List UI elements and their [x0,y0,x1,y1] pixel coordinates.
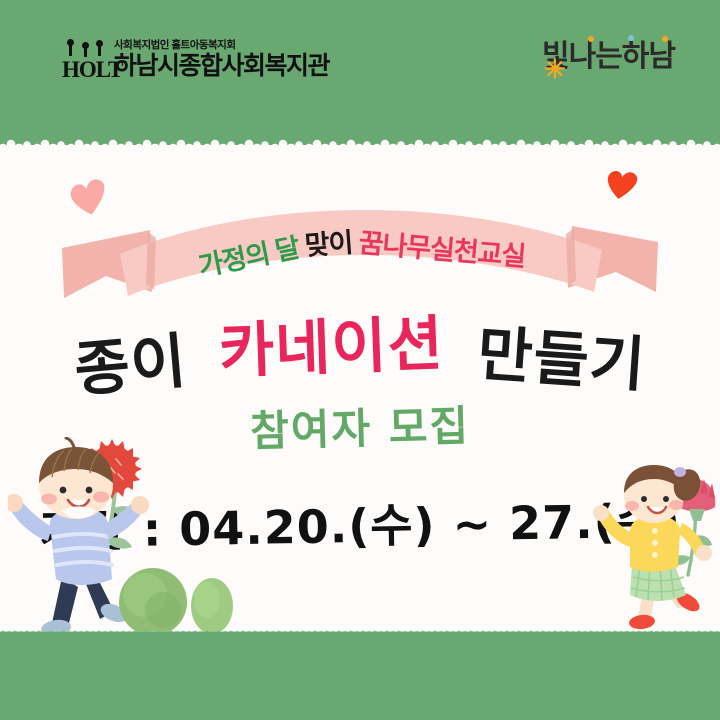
event-poster: HOLT 사회복지법인 홀트아동복지회 하남시종합사회복지관 ✳ 빛나는하남 [0,0,720,720]
poster-footer-band [0,632,720,720]
poster-header: HOLT 사회복지법인 홀트아동복지회 하남시종합사회복지관 ✳ 빛나는하남 [0,0,720,145]
ribbon-text-part3: 꿈나무실천교실 [357,220,527,273]
girl-with-carnation-illustration [592,465,720,646]
poster-main-card: 가정의 달 맞이 꿈나무실천교실 종이 카네이션 만들기 참여자 모집 기간 :… [0,145,720,635]
ribbon-text-part2: 맞이 [303,220,353,262]
poster-title: 종이 카네이션 만들기 [0,305,720,392]
torn-paper-edge-top [0,138,720,152]
welfare-center-name: 하남시종합사회복지관 [114,54,329,79]
sparkle-star-icon: ✳ [544,56,565,82]
ribbon-text-wrap: 가정의 달 맞이 꿈나무실천교실 [60,180,660,270]
hanam-city-logo: ✳ 빛나는하남 [542,42,675,72]
holt-welfare-center-logo: HOLT 사회복지법인 홀트아동복지회 하남시종합사회복지관 [62,40,329,79]
holt-pin-logo-icon: HOLT [62,43,108,79]
holt-mark-text: HOLT [62,58,122,81]
holt-logo-text-block: 사회복지법인 홀트아동복지회 하남시종합사회복지관 [114,40,329,79]
holt-corporation-label: 사회복지법인 홀트아동복지회 [114,40,329,51]
ribbon-banner: 가정의 달 맞이 꿈나무실천교실 [60,180,660,315]
title-segment-paper: 종이 [71,312,191,408]
title-segment-carnation: 카네이션 [218,295,446,390]
